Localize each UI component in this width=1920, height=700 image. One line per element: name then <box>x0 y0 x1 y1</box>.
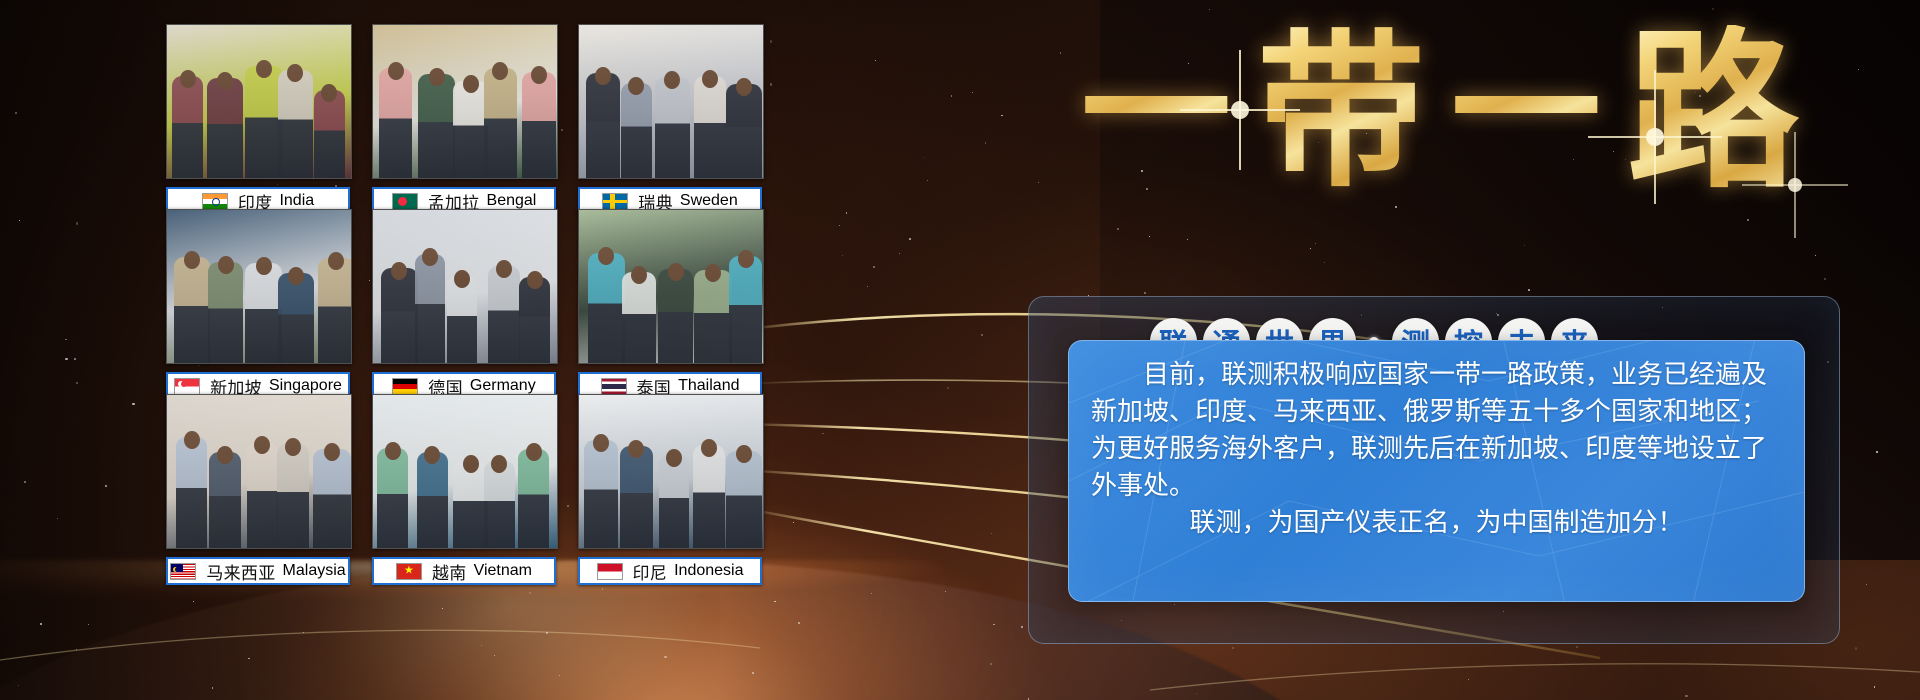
banner-stage: 一 带 一 路 印度India孟加拉Bengal瑞典Sweden新加坡Singa… <box>0 0 1920 700</box>
gallery-cell[interactable]: ★越南Vietnam <box>372 394 556 585</box>
gallery-cell[interactable]: 印尼Indonesia <box>578 394 762 585</box>
flag-thailand-icon <box>601 378 627 395</box>
calligraphy-char-2: 带 <box>1257 27 1425 195</box>
gallery-cell[interactable]: 德国Germany <box>372 209 556 400</box>
country-label-en: Thailand <box>678 377 739 395</box>
calligraphy-char-3: 一 <box>1451 36 1601 186</box>
country-photo[interactable] <box>166 209 352 364</box>
gallery-cell[interactable]: 泰国Thailand <box>578 209 762 400</box>
country-label-en: Vietnam <box>474 562 532 580</box>
country-photo[interactable] <box>166 394 352 549</box>
headline-calligraphy: 一 带 一 路 <box>1030 6 1850 216</box>
country-photo[interactable] <box>372 394 558 549</box>
country-label-textgroup: 越南Vietnam <box>432 559 532 584</box>
gallery-cell[interactable]: 马来西亚Malaysia <box>166 394 350 585</box>
country-photo[interactable] <box>578 24 764 179</box>
country-label-textgroup: 马来西亚Malaysia <box>206 559 345 584</box>
country-photo[interactable] <box>372 24 558 179</box>
flag-germany-icon <box>392 378 418 395</box>
country-label-en: Sweden <box>680 192 738 210</box>
country-label-en: Germany <box>470 377 536 395</box>
gallery-cell[interactable]: 印度India <box>166 24 350 215</box>
flag-indonesia-icon <box>597 563 623 580</box>
flag-singapore-icon <box>174 378 200 395</box>
info-body-text: 目前，联测积极响应国家一带一路政策，业务已经遍及新加坡、印度、马来西亚、俄罗斯等… <box>1069 341 1804 542</box>
calligraphy-char-1: 一 <box>1081 36 1231 186</box>
flag-sweden-icon <box>602 193 628 210</box>
country-label-en: Bengal <box>487 192 537 210</box>
country-label: 印尼Indonesia <box>578 557 762 585</box>
country-label-en: Indonesia <box>674 562 743 580</box>
country-photo[interactable] <box>578 394 764 549</box>
flag-vietnam-icon: ★ <box>396 563 422 580</box>
gallery-cell[interactable]: 孟加拉Bengal <box>372 24 556 215</box>
info-paragraph-2: 联测，为国产仪表正名，为中国制造加分！ <box>1091 505 1782 542</box>
calligraphy-char-4: 路 <box>1627 25 1799 197</box>
flag-malaysia-icon <box>170 563 196 580</box>
flag-india-icon <box>202 193 228 210</box>
gallery-cell[interactable]: 瑞典Sweden <box>578 24 762 215</box>
flag-bangladesh-icon <box>392 193 418 210</box>
info-paragraph-1: 目前，联测积极响应国家一带一路政策，业务已经遍及新加坡、印度、马来西亚、俄罗斯等… <box>1091 357 1782 505</box>
country-photo[interactable] <box>166 24 352 179</box>
info-blue-panel: 目前，联测积极响应国家一带一路政策，业务已经遍及新加坡、印度、马来西亚、俄罗斯等… <box>1068 340 1805 602</box>
country-label-text: 马来西亚 <box>206 559 275 584</box>
gallery-cell[interactable]: 新加坡Singapore <box>166 209 350 400</box>
country-label-en: India <box>279 192 314 210</box>
country-label-en: Malaysia <box>283 562 346 580</box>
country-label-text: 越南 <box>432 559 467 584</box>
country-label-textgroup: 印尼Indonesia <box>633 559 744 584</box>
country-label-en: Singapore <box>269 377 342 395</box>
country-label-text: 印尼 <box>633 559 668 584</box>
country-photo[interactable] <box>372 209 558 364</box>
country-photo[interactable] <box>578 209 764 364</box>
country-label: ★越南Vietnam <box>372 557 556 585</box>
country-label: 马来西亚Malaysia <box>166 557 350 585</box>
